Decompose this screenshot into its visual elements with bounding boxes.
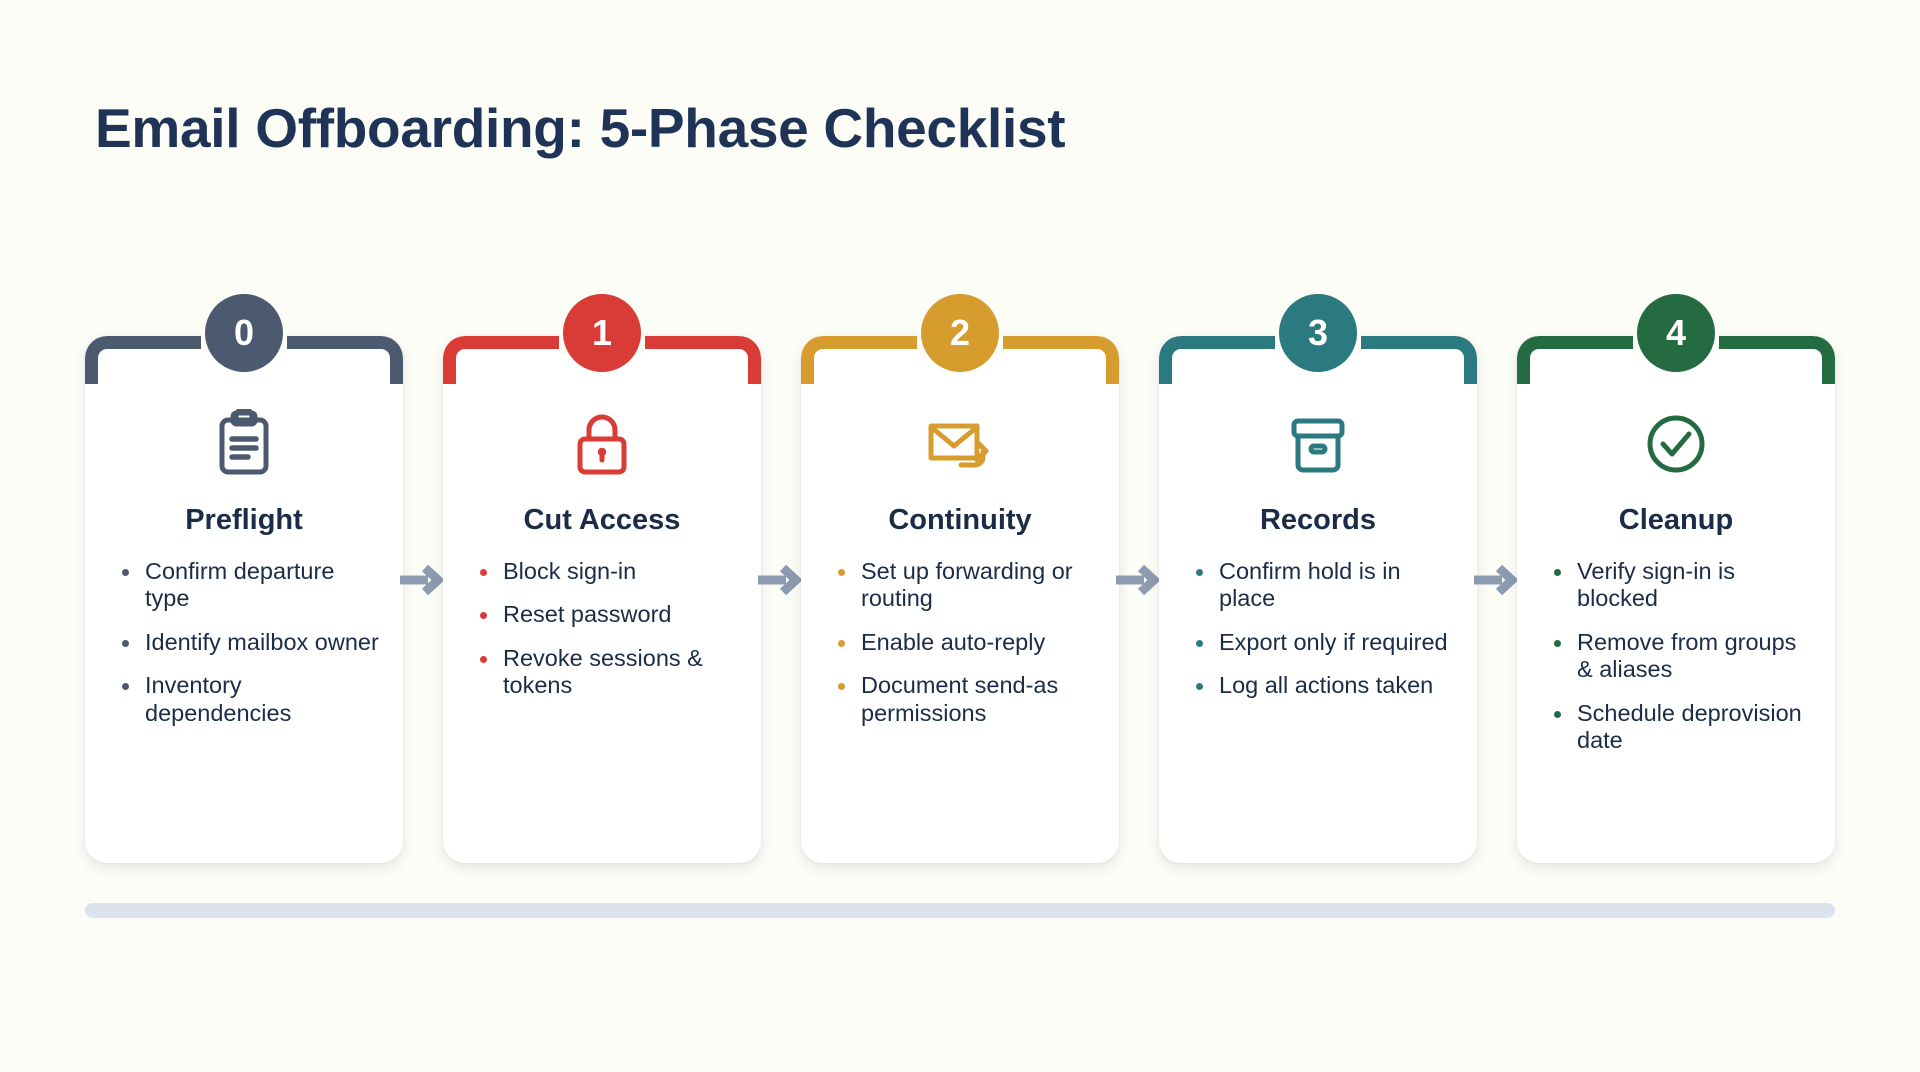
- arrow-right-icon: [758, 563, 804, 597]
- phase-connector: [403, 318, 443, 863]
- infographic-canvas: Email Offboarding: 5-Phase Checklist 0Pr…: [0, 0, 1920, 1072]
- envelope-forward-icon: [922, 406, 998, 482]
- phase-checklist: Confirm hold is in placeExport only if r…: [1185, 558, 1457, 716]
- checklist-item: Export only if required: [1185, 629, 1457, 656]
- phase-card-body[interactable]: 4CleanupVerify sign-in is blockedRemove …: [1517, 336, 1835, 863]
- phase-title: Cleanup: [1517, 504, 1835, 537]
- checklist-item: Schedule deprovision date: [1543, 700, 1815, 755]
- phase-checklist: Confirm departure typeIdentify mailbox o…: [111, 558, 383, 743]
- phase-number: 4: [1666, 315, 1686, 351]
- arrow-right-icon: [1474, 563, 1520, 597]
- phase-card-body[interactable]: 1Cut AccessBlock sign-inReset passwordRe…: [443, 336, 761, 863]
- phase-card-body[interactable]: 0PreflightConfirm departure typeIdentify…: [85, 336, 403, 863]
- phase-title: Preflight: [85, 504, 403, 537]
- archive-box-icon: [1280, 406, 1356, 482]
- phase-number-badge: 3: [1279, 294, 1357, 372]
- checklist-item: Confirm hold is in place: [1185, 558, 1457, 613]
- phase-number-badge: 1: [563, 294, 641, 372]
- checklist-item: Revoke sessions & tokens: [469, 645, 741, 700]
- phase-card-1[interactable]: 1Cut AccessBlock sign-inReset passwordRe…: [443, 318, 761, 863]
- phase-checklist: Verify sign-in is blockedRemove from gro…: [1543, 558, 1815, 771]
- check-circle-icon: [1638, 406, 1714, 482]
- phase-connector: [1119, 318, 1159, 863]
- checklist-item: Log all actions taken: [1185, 672, 1457, 699]
- checklist-item: Remove from groups & aliases: [1543, 629, 1815, 684]
- phase-number: 2: [950, 315, 970, 351]
- phase-number: 1: [592, 315, 612, 351]
- phase-connector: [761, 318, 801, 863]
- phase-number: 3: [1308, 315, 1328, 351]
- checklist-item: Set up forwarding or routing: [827, 558, 1099, 613]
- checklist-item: Identify mailbox owner: [111, 629, 383, 656]
- phase-number-badge: 2: [921, 294, 999, 372]
- timeline-base-rule: [85, 903, 1835, 918]
- phase-title: Records: [1159, 504, 1477, 537]
- phase-card-4[interactable]: 4CleanupVerify sign-in is blockedRemove …: [1517, 318, 1835, 863]
- phase-checklist: Block sign-inReset passwordRevoke sessio…: [469, 558, 741, 716]
- checklist-item: Block sign-in: [469, 558, 741, 585]
- phase-card-3[interactable]: 3RecordsConfirm hold is in placeExport o…: [1159, 318, 1477, 863]
- arrow-right-icon: [1116, 563, 1162, 597]
- phase-card-2[interactable]: 2ContinuitySet up forwarding or routingE…: [801, 318, 1119, 863]
- phase-connector: [1477, 318, 1517, 863]
- phase-card-body[interactable]: 2ContinuitySet up forwarding or routingE…: [801, 336, 1119, 863]
- arrow-right-icon: [400, 563, 446, 597]
- phase-number: 0: [234, 315, 254, 351]
- lock-icon: [564, 406, 640, 482]
- clipboard-icon: [206, 406, 282, 482]
- phase-card-0[interactable]: 0PreflightConfirm departure typeIdentify…: [85, 318, 403, 863]
- checklist-item: Inventory dependencies: [111, 672, 383, 727]
- phase-title: Cut Access: [443, 504, 761, 537]
- phase-card-strip: 0PreflightConfirm departure typeIdentify…: [85, 318, 1835, 863]
- phase-number-badge: 4: [1637, 294, 1715, 372]
- page-title: Email Offboarding: 5-Phase Checklist: [95, 96, 1065, 160]
- checklist-item: Reset password: [469, 601, 741, 628]
- checklist-item: Confirm departure type: [111, 558, 383, 613]
- checklist-item: Document send-as permissions: [827, 672, 1099, 727]
- phase-card-body[interactable]: 3RecordsConfirm hold is in placeExport o…: [1159, 336, 1477, 863]
- phase-title: Continuity: [801, 504, 1119, 537]
- checklist-item: Enable auto-reply: [827, 629, 1099, 656]
- checklist-item: Verify sign-in is blocked: [1543, 558, 1815, 613]
- phase-number-badge: 0: [205, 294, 283, 372]
- phase-checklist: Set up forwarding or routingEnable auto-…: [827, 558, 1099, 743]
